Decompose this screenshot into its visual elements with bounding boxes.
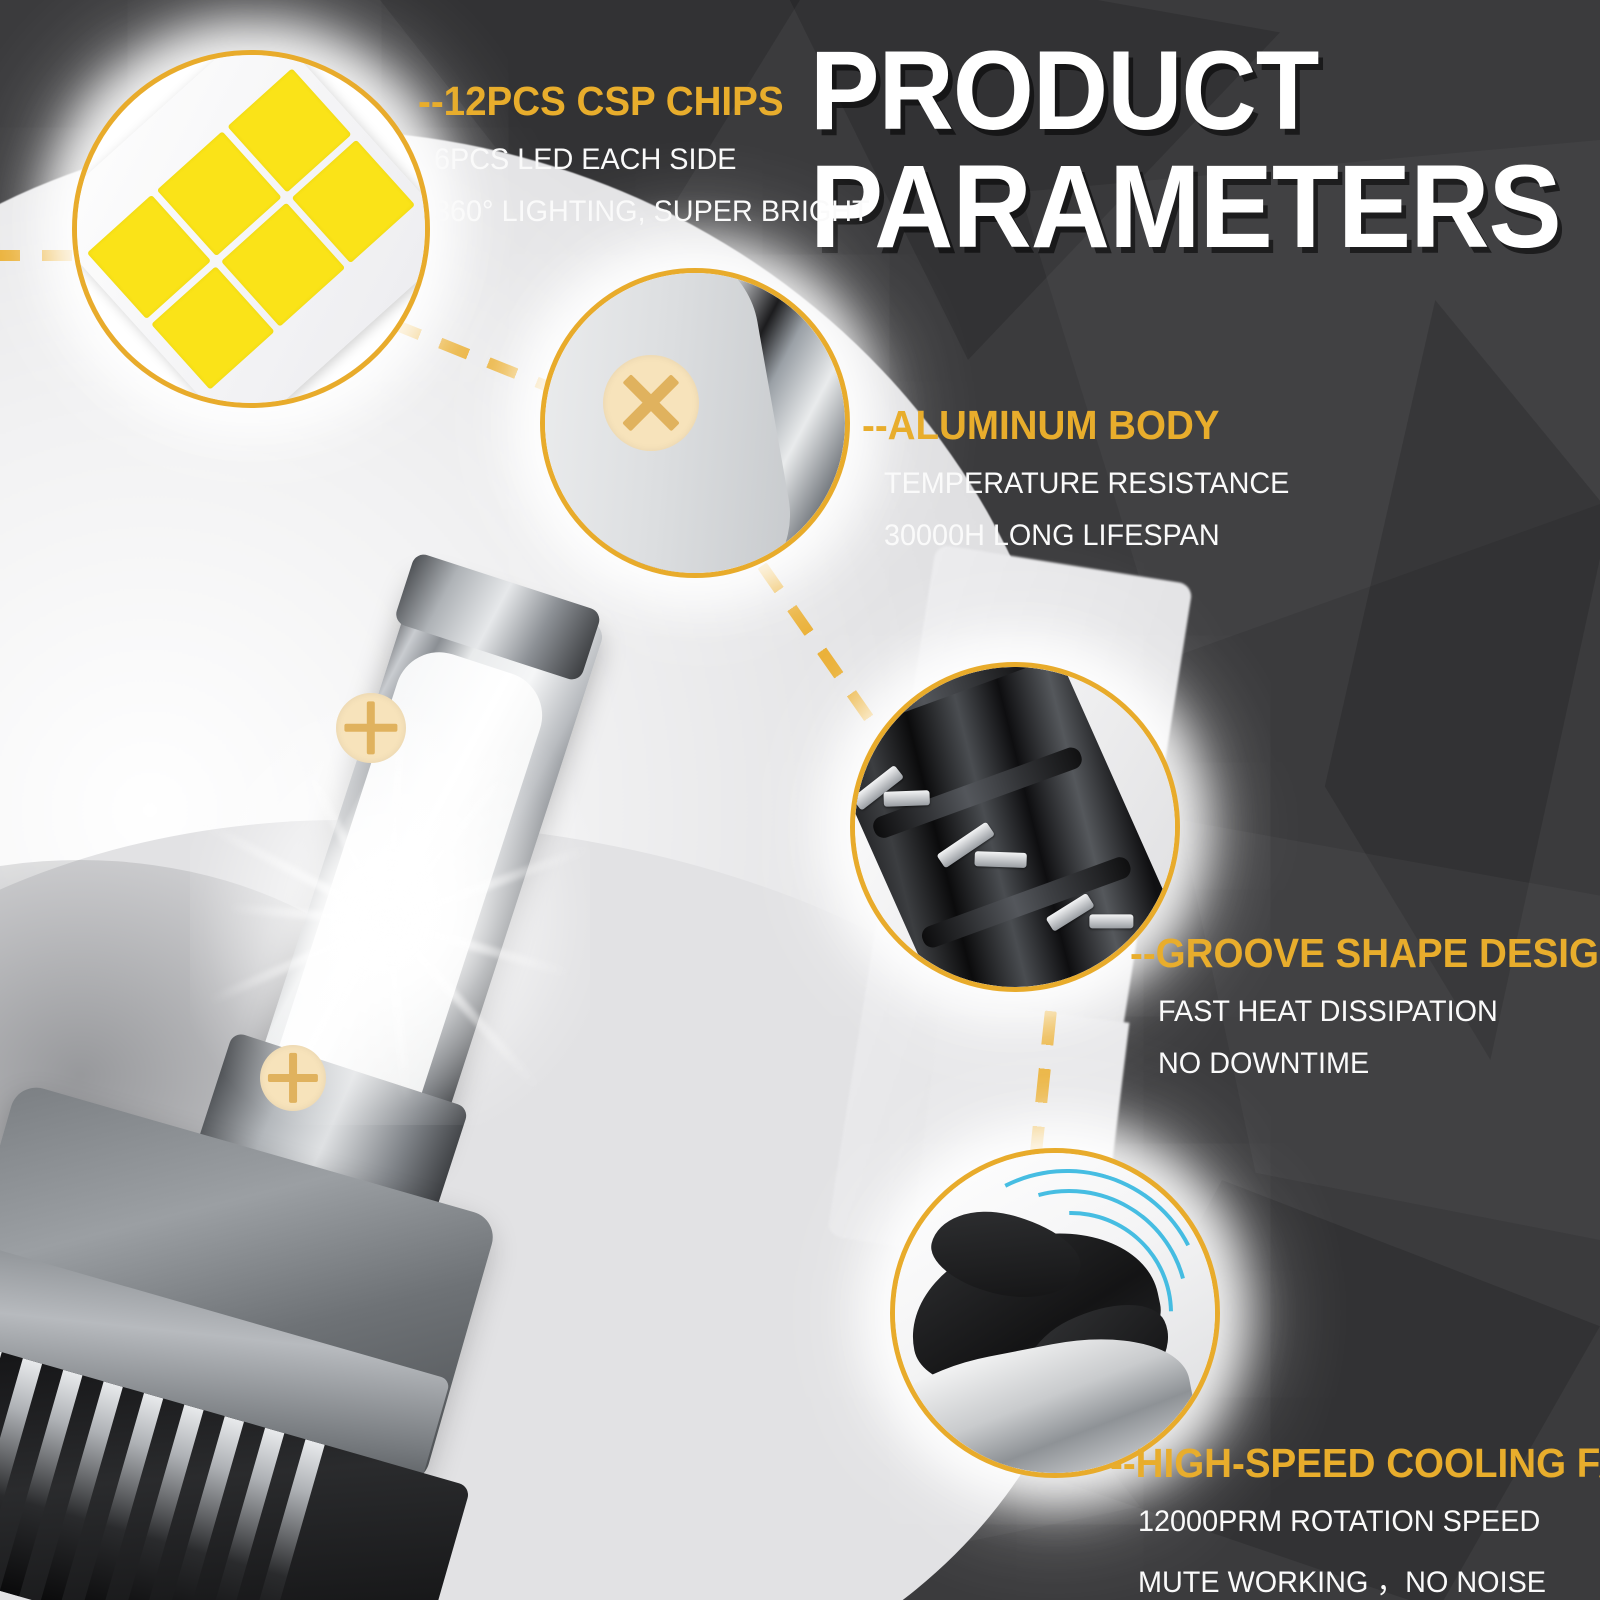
feature-subtitle: MUTE WORKING ，NO NOISE <box>1138 1557 1600 1600</box>
groove-rib <box>855 667 1033 737</box>
chip-substrate <box>77 55 425 403</box>
groove-rib <box>919 854 1133 950</box>
feature-title: --HIGH-SPEED COOLING FAN <box>1110 1440 1600 1487</box>
feature-subtitle: 12000PRM ROTATION SPEED <box>1138 1505 1600 1539</box>
cross-screw-icon <box>603 355 699 451</box>
groove-metal-tab <box>883 790 929 807</box>
feature-groove-shape-design: --GROOVE SHAPE DESIGN FAST HEAT DISSIPAT… <box>1130 930 1600 1081</box>
feature-subtitle: TEMPERATURE RESISTANCE <box>884 467 1289 501</box>
groove-metal-tab <box>974 851 1026 868</box>
feature-title: --ALUMINUM BODY <box>862 402 1280 449</box>
feature-subtitle: NO DOWNTIME <box>1158 1047 1600 1081</box>
feature-csp-chips: --12PCS CSP CHIPS 6PCS LED EACH SIDE 360… <box>418 78 888 229</box>
grooved-heatsink-icon <box>855 667 1175 987</box>
feature-subtitle: 6PCS LED EACH SIDE <box>434 143 870 177</box>
feature-subtitle: 360° LIGHTING, SUPER BRIGHT <box>434 195 870 229</box>
product-parameters-infographic: PRODUCT PARAMETERS <box>0 0 1600 1600</box>
feature-subtitle: 30000H LONG LIFESPAN <box>884 519 1289 553</box>
cooling-fan-icon <box>895 1153 1215 1473</box>
led-chip-array-icon <box>77 55 425 403</box>
feature-aluminum-body: --ALUMINUM BODY TEMPERATURE RESISTANCE 3… <box>862 402 1306 553</box>
screw-cross-icon <box>545 273 845 573</box>
page-title: PRODUCT PARAMETERS <box>810 36 1554 265</box>
feature-title: --GROOVE SHAPE DESIGN <box>1130 930 1600 977</box>
feature-subtitle: FAST HEAT DISSIPATION <box>1158 995 1600 1029</box>
callout-circle-csp-chips <box>72 50 430 408</box>
groove-metal-tab <box>1089 914 1133 928</box>
page-title-line2: PARAMETERS <box>810 150 1554 266</box>
feature-high-speed-cooling-fan: --HIGH-SPEED COOLING FAN 12000PRM ROTATI… <box>1110 1440 1600 1600</box>
led-bulb-illustration <box>150 545 610 1600</box>
callout-circle-aluminum-body <box>540 268 850 578</box>
cross-screw-icon <box>260 1045 326 1111</box>
callout-circle-cooling-fan <box>890 1148 1220 1478</box>
chip-grid <box>87 68 415 389</box>
feature-title: --12PCS CSP CHIPS <box>418 78 860 125</box>
cross-screw-icon <box>336 693 406 763</box>
